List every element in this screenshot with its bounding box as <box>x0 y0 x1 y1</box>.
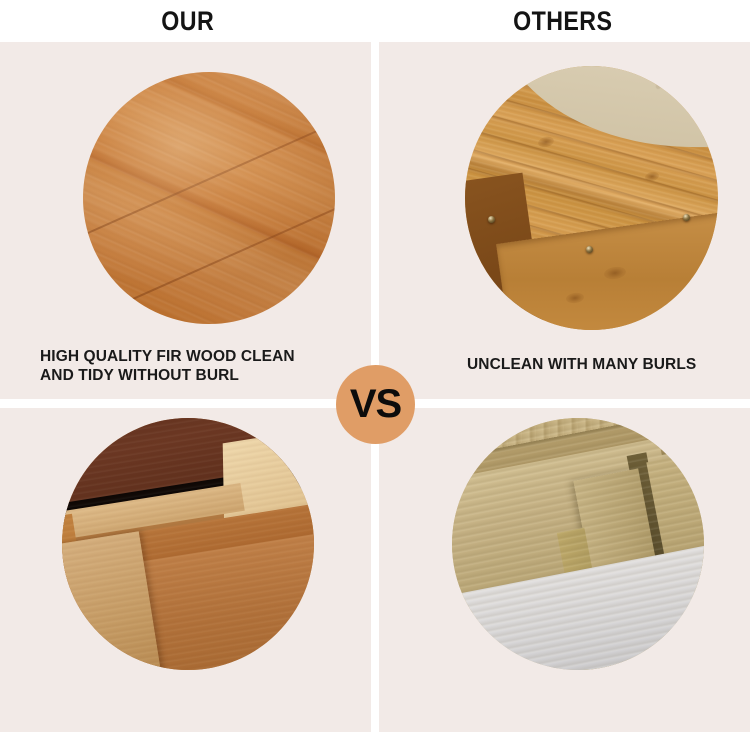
vs-badge-label: VS <box>350 384 401 424</box>
wood-texture <box>83 72 335 324</box>
raw-untreated-wood-joint-photo <box>452 418 704 670</box>
knotty-wood-planks-with-screws-photo <box>465 66 718 330</box>
painted-furniture-corner-photo <box>62 418 314 670</box>
surface-gloss <box>83 72 335 324</box>
screw-head-icon <box>683 214 690 221</box>
cell-others-row-1: UNCLEAN WITH MANY BURLS <box>379 42 750 399</box>
header-cell-others: OTHERS <box>375 0 750 42</box>
wood-texture <box>62 418 314 670</box>
wood-grain <box>62 418 314 670</box>
caption-others-row-1: UNCLEAN WITH MANY BURLS <box>467 355 696 374</box>
screw-head-icon <box>586 246 593 253</box>
header-cell-our: OUR <box>0 0 375 42</box>
header-title-our: OUR <box>161 8 214 35</box>
cell-others-row-2: ORDINARY WOOD <box>379 408 750 732</box>
smooth-fir-wood-surface-photo <box>83 72 335 324</box>
cell-our-row-1: HIGH QUALITY FIR WOOD CLEAN AND TIDY WIT… <box>0 42 371 399</box>
caption-our-row-1: HIGH QUALITY FIR WOOD CLEAN AND TIDY WIT… <box>40 347 295 385</box>
wood-texture <box>465 66 718 330</box>
comparison-infographic: OUR OTHERS HIGH QUALITY FIR WOOD CLEAN A… <box>0 0 750 732</box>
wood-texture <box>452 418 704 670</box>
cell-our-row-2: WATERPROOF AND NON-TOXIC PAINTING <box>0 408 371 732</box>
header-title-others: OTHERS <box>513 8 612 35</box>
header-bar: OUR OTHERS <box>0 0 750 42</box>
wood-grain <box>452 418 704 670</box>
vs-badge: VS <box>336 365 415 444</box>
